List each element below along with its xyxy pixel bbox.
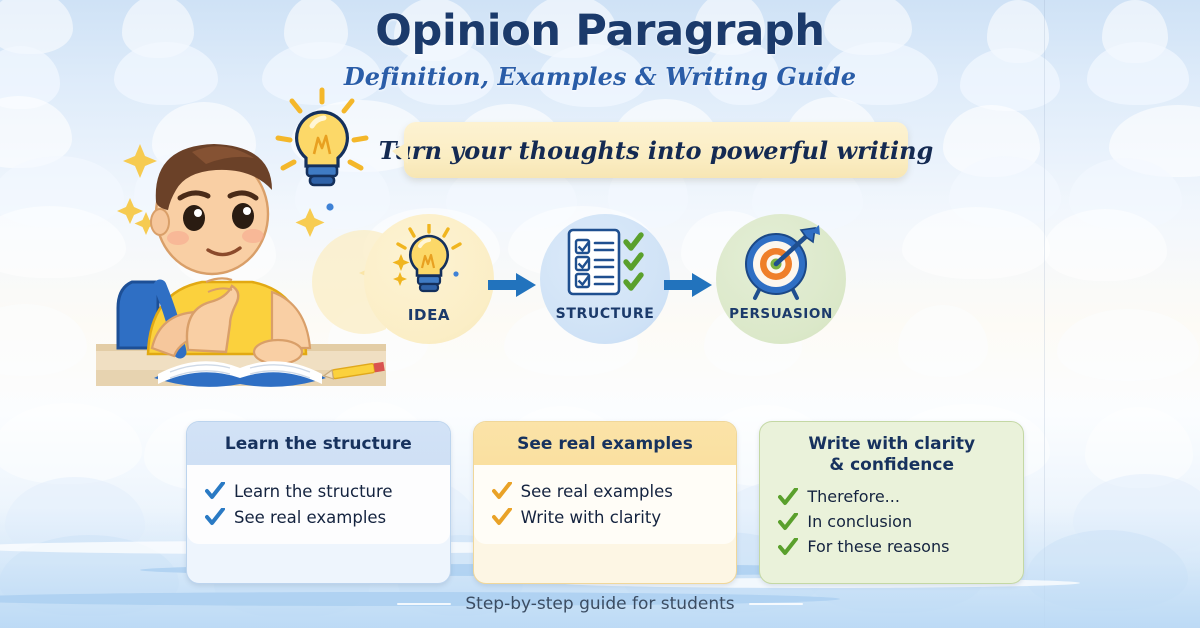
footer-text: Step-by-step guide for students bbox=[465, 594, 734, 614]
check-icon bbox=[778, 513, 798, 531]
page-header: Opinion Paragraph Definition, Examples &… bbox=[0, 6, 1200, 91]
benefit-cards: Learn the structure Learn the structure … bbox=[186, 421, 1024, 584]
speech-bubble: Turn your thoughts into powerful writing bbox=[404, 122, 908, 178]
list-item-label: For these reasons bbox=[807, 537, 949, 556]
footer: Step-by-step guide for students bbox=[0, 594, 1200, 614]
list-item-label: Write with clarity bbox=[521, 508, 661, 527]
list-item-label: Therefore... bbox=[807, 487, 900, 506]
list-item-label: In conclusion bbox=[807, 512, 912, 531]
lightbulb-icon bbox=[389, 222, 469, 306]
list-item: Learn the structure bbox=[205, 482, 436, 501]
card-title-line2: & confidence bbox=[770, 455, 1013, 476]
check-icon bbox=[778, 488, 798, 506]
footer-divider-left bbox=[397, 603, 451, 605]
page-title: Opinion Paragraph bbox=[0, 6, 1200, 56]
card-body: See real examples Write with clarity bbox=[474, 465, 737, 544]
card-learn-the-structure[interactable]: Learn the structure Learn the structure … bbox=[186, 421, 451, 584]
flow-step-structure[interactable]: STRUCTURE bbox=[540, 214, 670, 344]
target-icon bbox=[739, 222, 823, 306]
card-title-line1: Write with clarity bbox=[770, 434, 1013, 455]
speech-bubble-tail bbox=[392, 142, 408, 164]
flow-step-persuasion[interactable]: PERSUASION bbox=[716, 214, 846, 344]
list-item-label: See real examples bbox=[521, 482, 673, 501]
card-see-real-examples[interactable]: See real examples See real examples Writ… bbox=[473, 421, 738, 584]
list-item: See real examples bbox=[205, 508, 436, 527]
thinking-student-illustration bbox=[96, 86, 386, 406]
check-icon bbox=[492, 482, 512, 500]
footer-divider-right bbox=[749, 603, 803, 605]
card-title: Write with clarity & confidence bbox=[760, 422, 1023, 479]
flow-step-label: PERSUASION bbox=[729, 306, 833, 322]
checklist-icon bbox=[563, 222, 647, 306]
check-icon bbox=[205, 482, 225, 500]
list-item-label: See real examples bbox=[234, 508, 386, 527]
arrow-right-icon bbox=[664, 272, 712, 298]
flow-step-label: IDEA bbox=[408, 306, 450, 324]
check-icon bbox=[778, 538, 798, 556]
speech-bubble-text: Turn your thoughts into powerful writing bbox=[379, 136, 934, 165]
list-item: In conclusion bbox=[778, 512, 1009, 531]
arrow-right-icon bbox=[488, 272, 536, 298]
card-title: Learn the structure bbox=[187, 422, 450, 465]
flow-step-idea[interactable]: IDEA bbox=[364, 214, 494, 344]
infographic-canvas: Opinion Paragraph Definition, Examples &… bbox=[0, 0, 1200, 628]
check-icon bbox=[492, 508, 512, 526]
card-write-with-clarity[interactable]: Write with clarity & confidence Therefor… bbox=[759, 421, 1024, 584]
list-item-label: Learn the structure bbox=[234, 482, 393, 501]
card-body: Learn the structure See real examples bbox=[187, 465, 450, 544]
card-body: Therefore... In conclusion For these rea… bbox=[760, 479, 1023, 572]
list-item: See real examples bbox=[492, 482, 723, 501]
card-title: See real examples bbox=[474, 422, 737, 465]
check-icon bbox=[205, 508, 225, 526]
list-item: For these reasons bbox=[778, 537, 1009, 556]
list-item: Write with clarity bbox=[492, 508, 723, 527]
list-item: Therefore... bbox=[778, 487, 1009, 506]
process-flow: IDEA bbox=[364, 212, 864, 352]
flow-step-label: STRUCTURE bbox=[556, 306, 655, 322]
